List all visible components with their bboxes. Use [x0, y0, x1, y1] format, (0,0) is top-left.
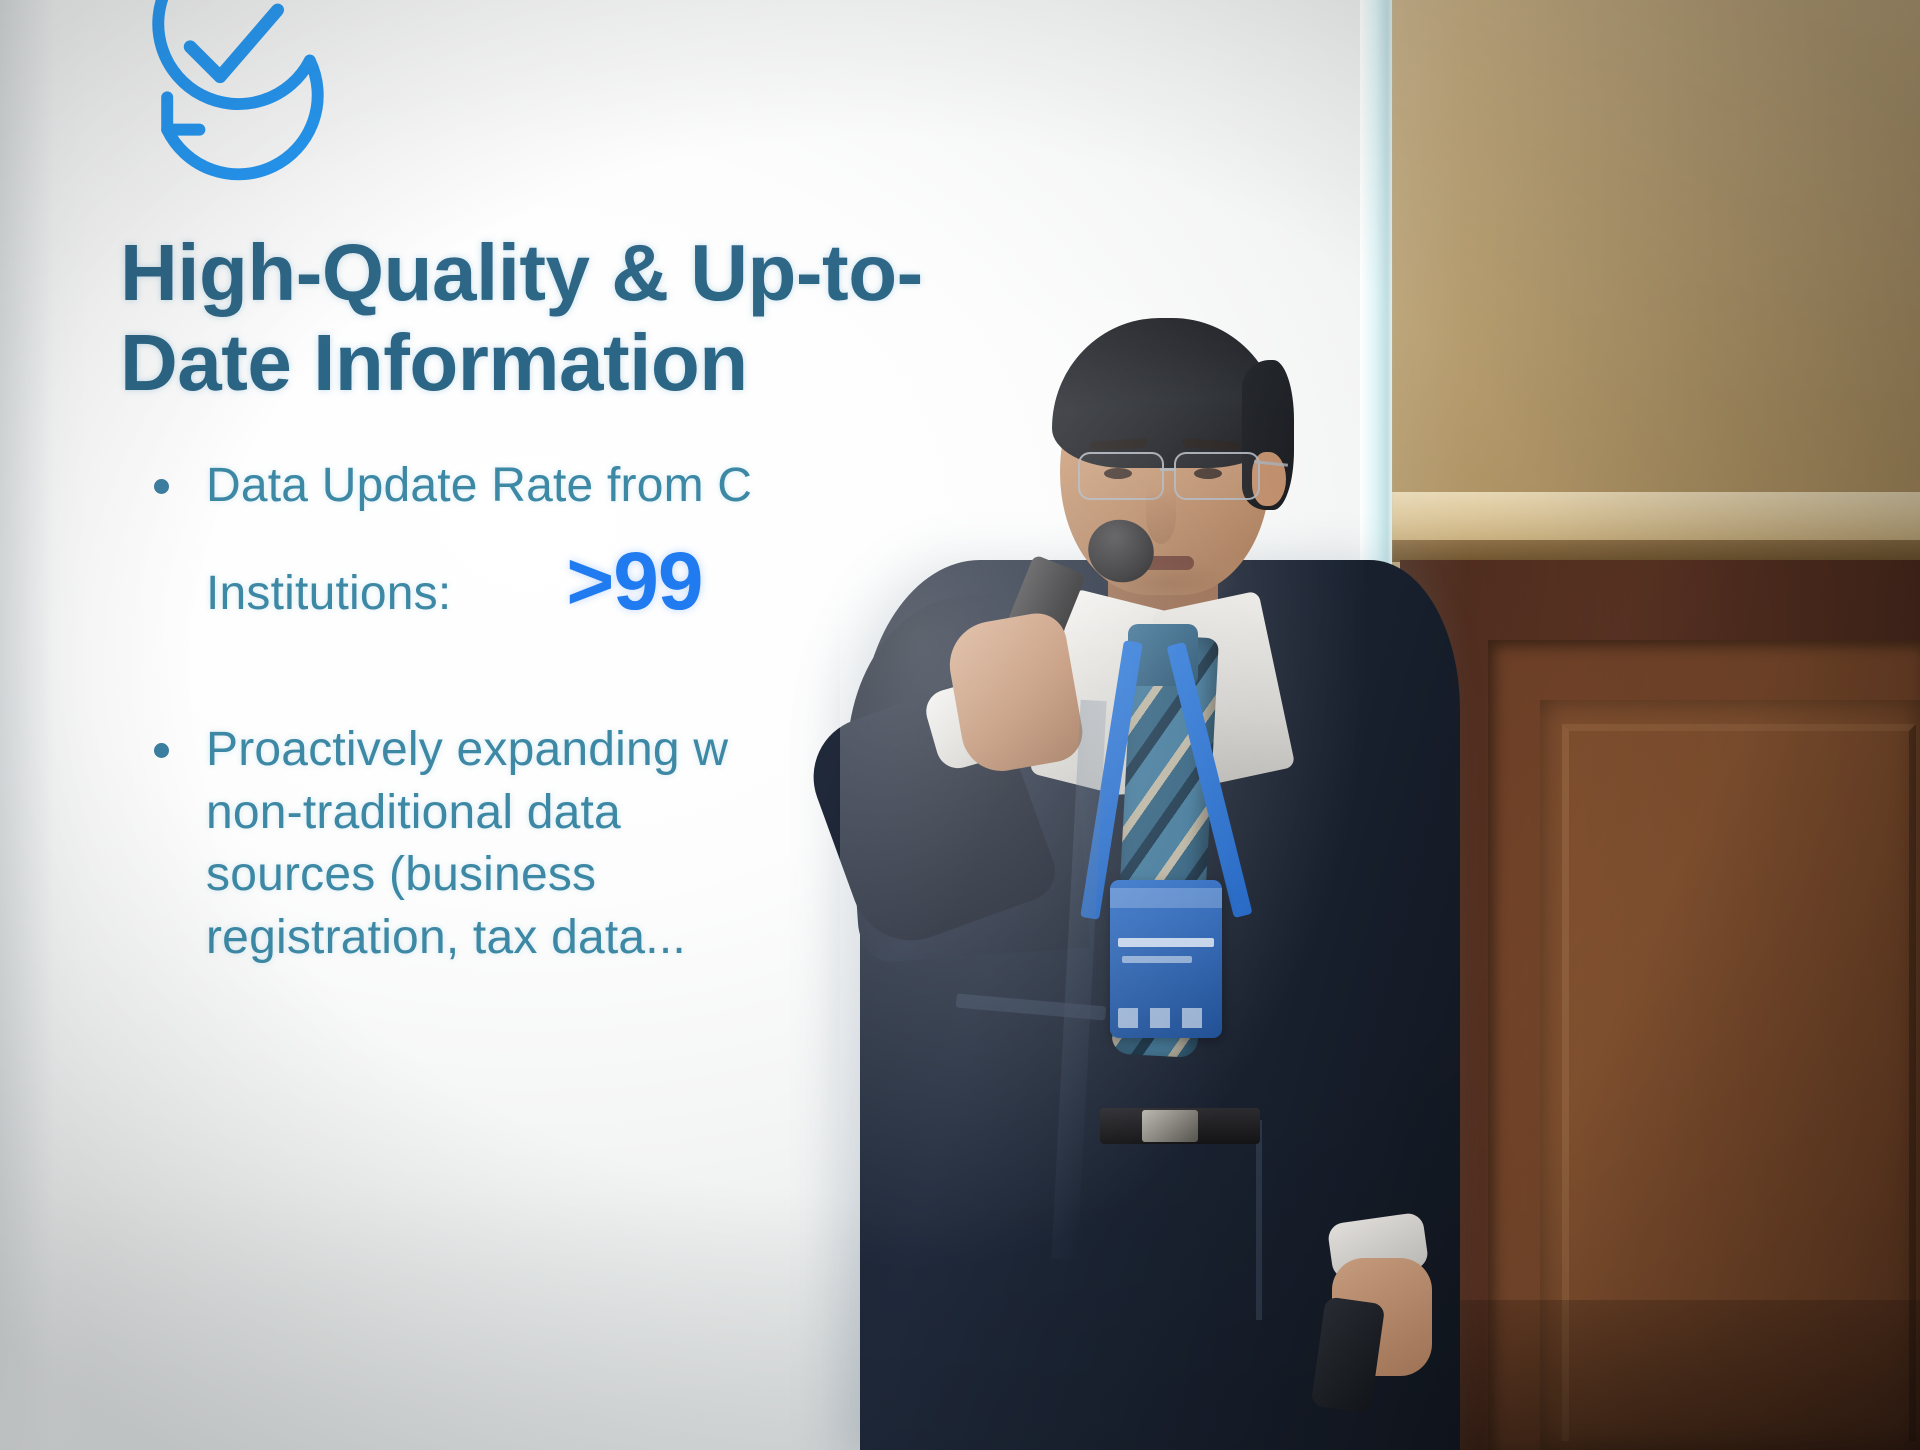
badge-subtitle-line	[1122, 956, 1192, 963]
conference-photo: High-Quality & Up-to- Date Information D…	[0, 0, 1920, 1450]
badge-name-line	[1118, 938, 1214, 947]
conference-badge	[1110, 880, 1222, 1038]
belt-buckle	[1142, 1110, 1198, 1142]
speaker-nose	[1146, 488, 1176, 544]
badge-sponsor-logos	[1118, 1008, 1214, 1028]
eyeglasses-bridge	[1160, 468, 1176, 471]
eyeglasses-lens-right	[1174, 452, 1260, 500]
jacket-side-seam	[1256, 1120, 1262, 1320]
badge-header-strip	[1110, 888, 1222, 908]
speaker-person	[0, 0, 1920, 1450]
